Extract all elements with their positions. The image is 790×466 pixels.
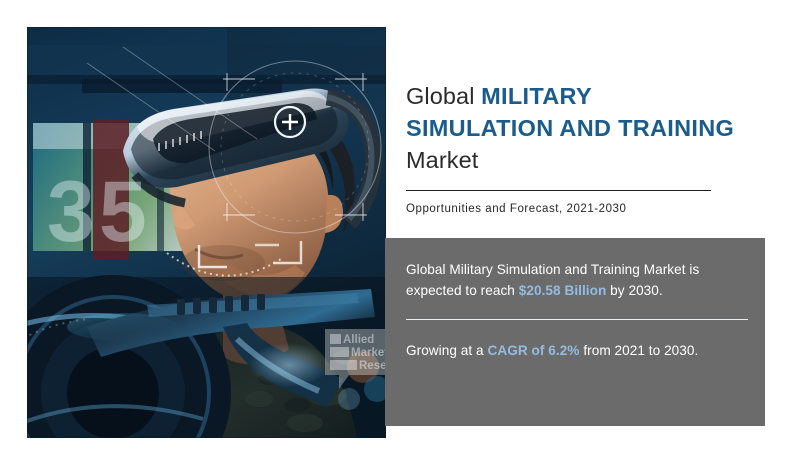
title-divider (406, 190, 711, 191)
stat-market-value: Global Military Simulation and Training … (406, 259, 748, 301)
hero-photo-artwork: 35 (27, 27, 386, 438)
page-title: Global MILITARY SIMULATION AND TRAINING … (406, 80, 736, 176)
stat-2-prefix: Growing at a (406, 343, 488, 358)
hero-photo: 35 (27, 27, 386, 438)
stat-2-highlight: CAGR of 6.2% (488, 343, 580, 358)
title-part-market: Market (406, 147, 478, 173)
svg-text:35: 35 (47, 164, 151, 260)
stats-panel: Global Military Simulation and Training … (385, 238, 765, 426)
svg-text:Research: Research (359, 360, 386, 372)
title-part-global: Global (406, 83, 481, 109)
svg-text:Market: Market (351, 347, 386, 359)
svg-text:Allied: Allied (343, 334, 374, 346)
stat-1-suffix: by 2030. (606, 283, 662, 298)
stat-cagr: Growing at a CAGR of 6.2% from 2021 to 2… (406, 340, 754, 361)
stat-1-highlight: $20.58 Billion (519, 283, 607, 298)
stat-2-suffix: from 2021 to 2030. (580, 343, 699, 358)
subtitle: Opportunities and Forecast, 2021-2030 (406, 203, 746, 215)
stats-divider (406, 319, 748, 320)
infographic-canvas: 35 (0, 0, 790, 466)
